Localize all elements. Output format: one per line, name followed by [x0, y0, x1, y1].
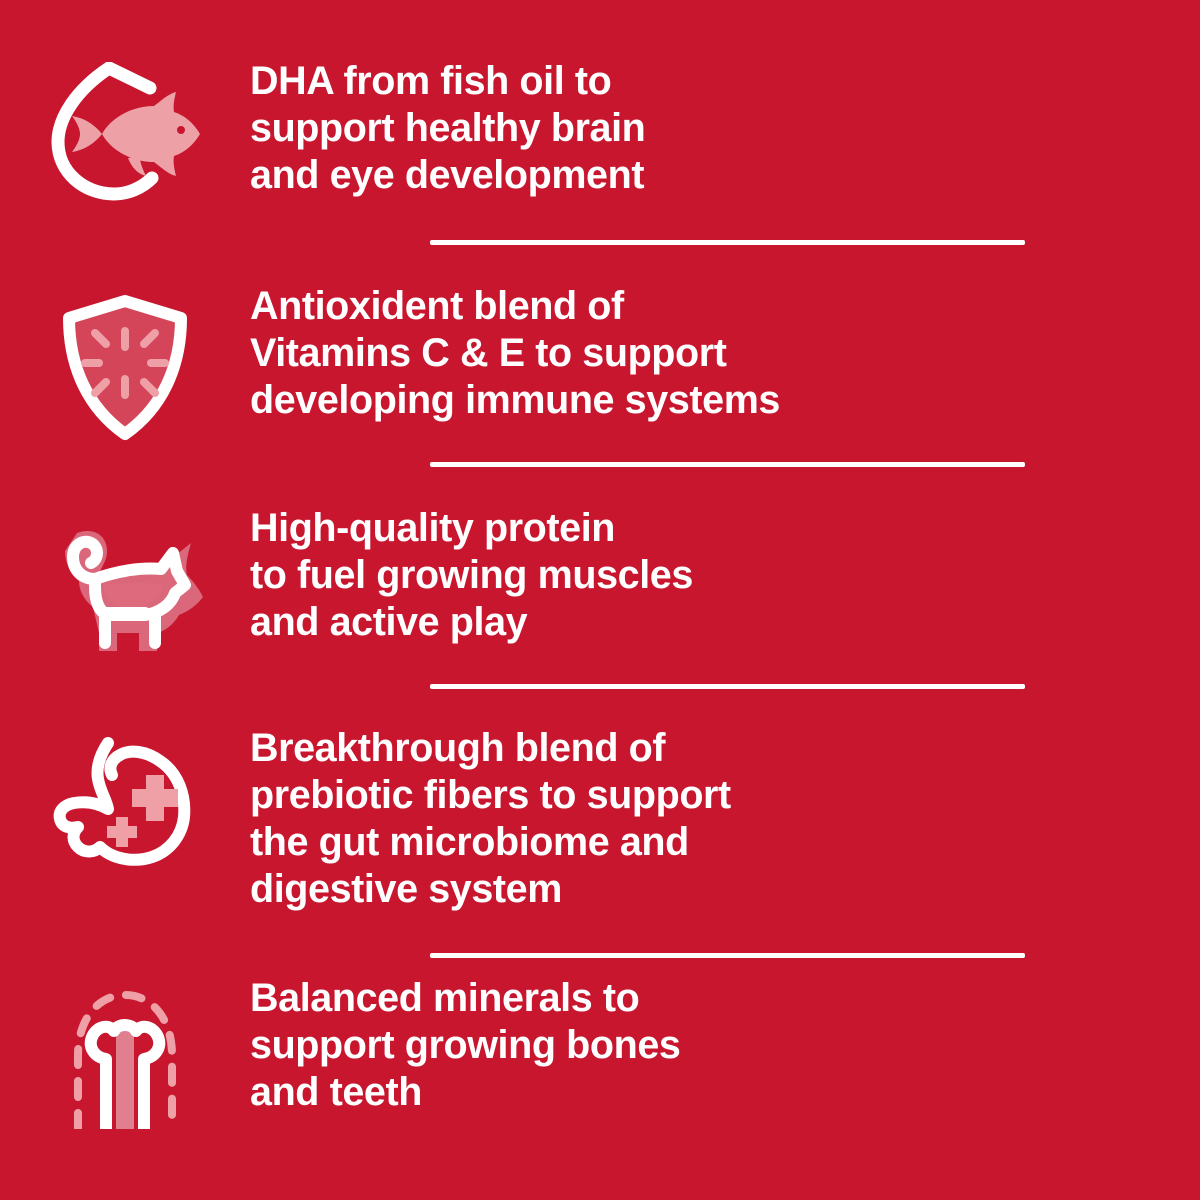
fish-oil-droplet-icon	[50, 62, 200, 202]
shield-antioxidant-icon	[55, 287, 195, 447]
benefit-text: DHA from fish oil to support healthy bra…	[250, 58, 1030, 199]
divider	[430, 684, 1025, 689]
benefit-row: Breakthrough blend of prebiotic fibers t…	[0, 725, 1200, 913]
benefit-icon-cell	[0, 505, 250, 659]
benefit-text-cell: DHA from fish oil to support healthy bra…	[250, 58, 1200, 199]
benefits-panel: DHA from fish oil to support healthy bra…	[0, 0, 1200, 1200]
divider	[430, 240, 1025, 245]
divider	[430, 953, 1025, 958]
benefit-text-cell: Balanced minerals to support growing bon…	[250, 975, 1200, 1116]
benefit-text: Antioxident blend of Vitamins C & E to s…	[250, 283, 1030, 424]
benefit-icon-cell	[0, 975, 250, 1129]
cat-protein-muscle-icon	[33, 509, 218, 659]
benefit-icon-cell	[0, 283, 250, 447]
benefit-text: High-quality protein to fuel growing mus…	[250, 505, 1030, 646]
benefit-text: Balanced minerals to support growing bon…	[250, 975, 1030, 1116]
bone-minerals-icon	[60, 979, 190, 1129]
benefit-text-cell: Breakthrough blend of prebiotic fibers t…	[250, 725, 1200, 913]
benefit-text-cell: Antioxident blend of Vitamins C & E to s…	[250, 283, 1200, 424]
benefit-text: Breakthrough blend of prebiotic fibers t…	[250, 725, 1030, 913]
benefit-icon-cell	[0, 725, 250, 869]
divider	[430, 462, 1025, 467]
benefit-row: Balanced minerals to support growing bon…	[0, 975, 1200, 1129]
benefit-text-cell: High-quality protein to fuel growing mus…	[250, 505, 1200, 646]
benefit-row: High-quality protein to fuel growing mus…	[0, 505, 1200, 659]
benefit-icon-cell	[0, 58, 250, 202]
benefit-row: Antioxident blend of Vitamins C & E to s…	[0, 283, 1200, 447]
benefit-row: DHA from fish oil to support healthy bra…	[0, 58, 1200, 202]
stomach-digestive-icon	[50, 729, 200, 869]
